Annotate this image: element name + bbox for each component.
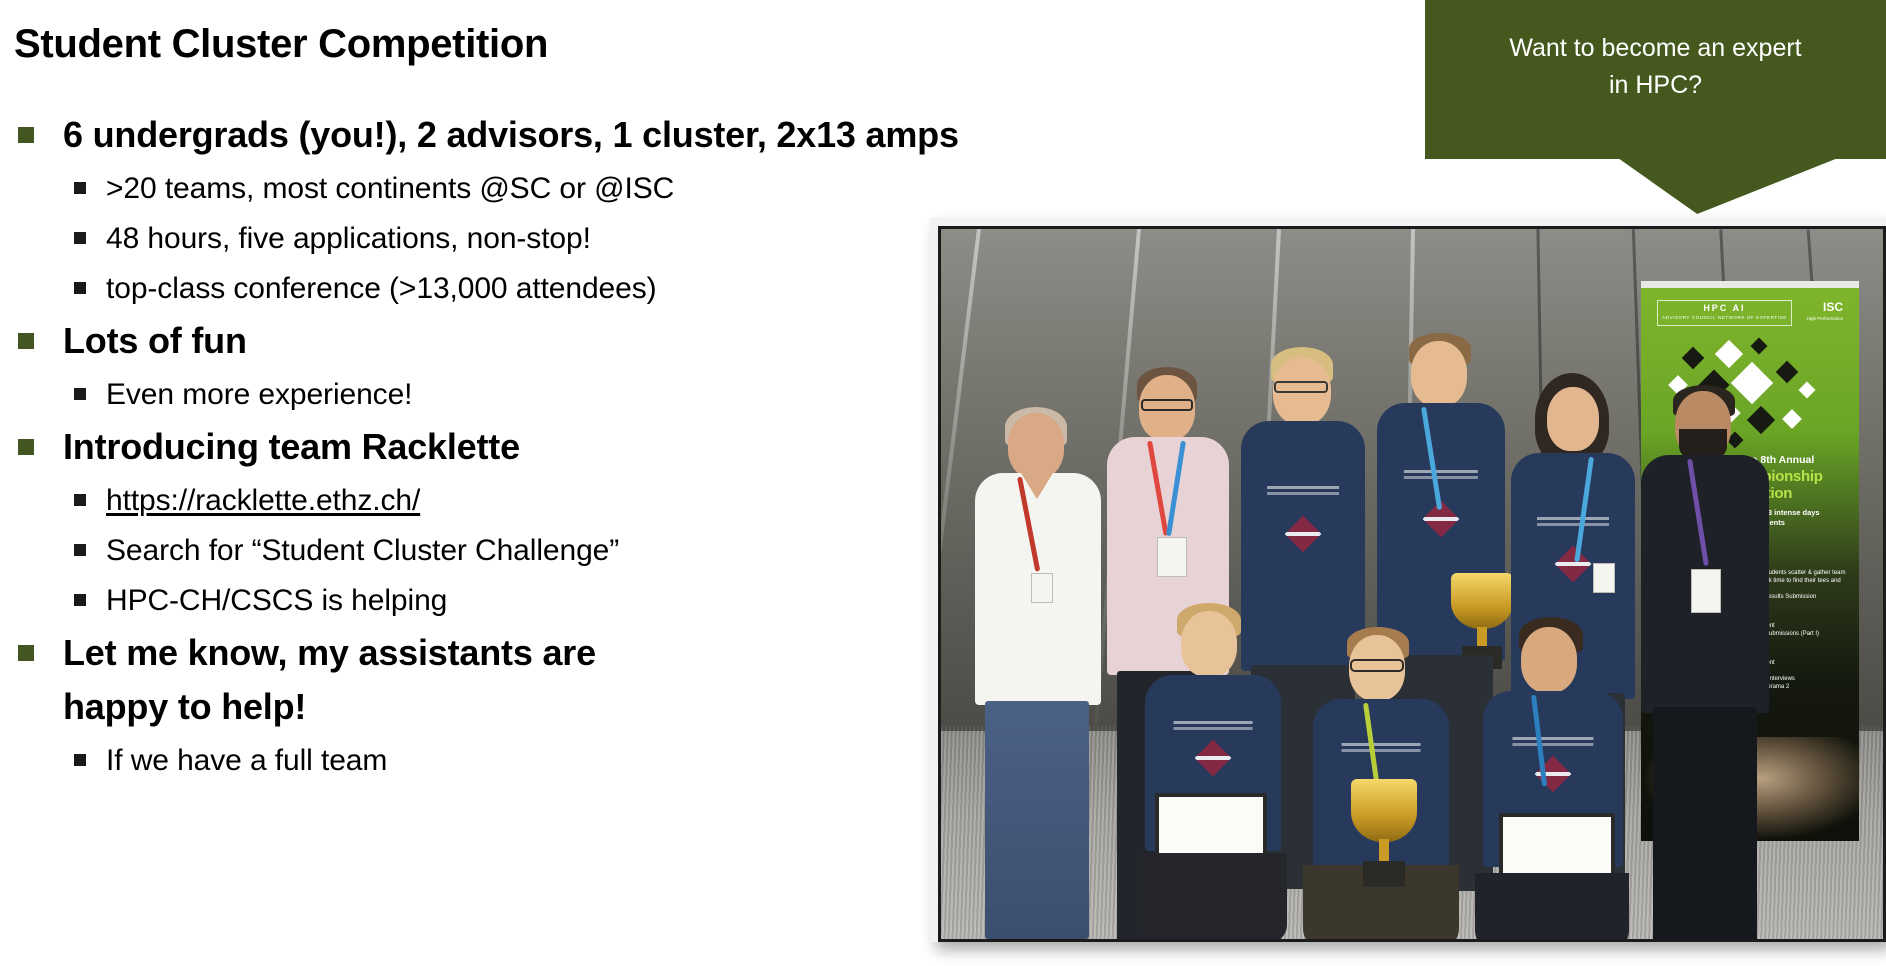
badge bbox=[1593, 563, 1615, 593]
person-advisor-white-shirt bbox=[975, 411, 1101, 942]
bullet-text: 48 hours, five applications, non-stop! bbox=[106, 214, 591, 263]
person-kneeling-certificate-right bbox=[1475, 617, 1631, 942]
head bbox=[1411, 341, 1467, 407]
hpc-expert-callout: Want to become an expert in HPC? bbox=[1425, 0, 1886, 159]
team-photo: HPC AI ADVISORY COUNCIL NETWORK OF EXPER… bbox=[938, 226, 1886, 942]
bullet-marker-level2 bbox=[74, 594, 86, 606]
head bbox=[1008, 413, 1064, 479]
list-item: Introducing team Racklette bbox=[0, 420, 960, 474]
trophy-cup bbox=[1351, 779, 1417, 842]
bullet-text: Even more experience! bbox=[106, 370, 412, 419]
hpc-ai-logo: HPC AI ADVISORY COUNCIL NETWORK OF EXPER… bbox=[1657, 300, 1792, 326]
hpc-ai-logo-sub: ADVISORY COUNCIL NETWORK OF EXPERTISE bbox=[1662, 313, 1787, 323]
glasses-icon bbox=[1274, 381, 1328, 393]
page-title: Student Cluster Competition bbox=[14, 22, 548, 67]
bullet-marker-level1 bbox=[18, 127, 34, 143]
glasses-icon bbox=[1141, 399, 1193, 411]
list-item: 6 undergrads (you!), 2 advisors, 1 clust… bbox=[0, 108, 960, 162]
trophy-stem bbox=[1379, 839, 1390, 863]
glasses-icon bbox=[1350, 659, 1404, 672]
badge bbox=[1691, 569, 1721, 613]
head bbox=[1521, 627, 1577, 693]
bullet-marker-level2 bbox=[74, 494, 86, 506]
legs bbox=[1475, 873, 1629, 942]
tshirt-logo bbox=[1555, 546, 1592, 583]
list-item: 48 hours, five applications, non-stop! bbox=[0, 214, 960, 263]
list-item: HPC-CH/CSCS is helping bbox=[0, 576, 960, 625]
person-kneeling-trophy-middle bbox=[1303, 627, 1459, 942]
racklette-website-link[interactable]: https://racklette.ethz.ch/ bbox=[106, 476, 420, 525]
bullet-text: Search for “Student Cluster Challenge” bbox=[106, 526, 619, 575]
list-item: Even more experience! bbox=[0, 370, 960, 419]
callout-tail bbox=[1618, 158, 1838, 214]
bullet-marker-level1 bbox=[18, 645, 34, 661]
trophy-base bbox=[1363, 861, 1405, 887]
head bbox=[1181, 611, 1237, 677]
list-item: Let me know, my assistants are happy to … bbox=[0, 626, 700, 734]
bullet-list: 6 undergrads (you!), 2 advisors, 1 clust… bbox=[0, 108, 960, 786]
tshirt-logo bbox=[1285, 516, 1322, 553]
bullet-text: 6 undergrads (you!), 2 advisors, 1 clust… bbox=[63, 108, 959, 162]
list-item: >20 teams, most continents @SC or @ISC bbox=[0, 164, 960, 213]
trophy bbox=[1351, 779, 1417, 887]
list-item: If we have a full team bbox=[0, 736, 960, 785]
bullet-marker-level2 bbox=[74, 388, 86, 400]
isc-logo: ISC High Performance bbox=[1807, 302, 1843, 324]
bullet-text: Introducing team Racklette bbox=[63, 420, 520, 474]
legs bbox=[985, 701, 1089, 939]
badge bbox=[1157, 537, 1187, 577]
bullet-text: >20 teams, most continents @SC or @ISC bbox=[106, 164, 674, 213]
bullet-marker-level2 bbox=[74, 544, 86, 556]
tshirt-logo bbox=[1195, 740, 1232, 777]
badge bbox=[1031, 573, 1053, 603]
team-photo-frame: HPC AI ADVISORY COUNCIL NETWORK OF EXPER… bbox=[930, 218, 1886, 942]
bullet-marker-level1 bbox=[18, 333, 34, 349]
bullet-text: HPC-CH/CSCS is helping bbox=[106, 576, 447, 625]
bullet-marker-level1 bbox=[18, 439, 34, 455]
bullet-marker-level2 bbox=[74, 282, 86, 294]
head bbox=[1547, 387, 1599, 451]
hpc-ai-logo-text: HPC AI bbox=[1703, 303, 1745, 313]
list-item: top-class conference (>13,000 attendees) bbox=[0, 264, 960, 313]
legs bbox=[1137, 853, 1287, 942]
bullet-text: Let me know, my assistants are happy to … bbox=[63, 626, 700, 734]
list-item: Search for “Student Cluster Challenge” bbox=[0, 526, 960, 575]
bullet-marker-level2 bbox=[74, 182, 86, 194]
list-item: Lots of fun bbox=[0, 314, 960, 368]
isc-logo-sub: High Performance bbox=[1807, 313, 1843, 324]
person-advisor-dark-jacket bbox=[1641, 385, 1769, 942]
bullet-text: Lots of fun bbox=[63, 314, 247, 368]
slide: Student Cluster Competition 6 undergrads… bbox=[0, 0, 1886, 966]
bullet-marker-level2 bbox=[74, 232, 86, 244]
banner-logos: HPC AI ADVISORY COUNCIL NETWORK OF EXPER… bbox=[1641, 288, 1859, 326]
legs bbox=[1653, 707, 1757, 942]
bullet-marker-level2 bbox=[74, 754, 86, 766]
bullet-text: top-class conference (>13,000 attendees) bbox=[106, 264, 657, 313]
bullet-text: If we have a full team bbox=[106, 736, 387, 785]
list-item-link[interactable]: https://racklette.ethz.ch/ bbox=[0, 476, 960, 525]
isc-logo-text: ISC bbox=[1823, 300, 1843, 314]
callout-text: Want to become an expert in HPC? bbox=[1425, 0, 1886, 104]
person-kneeling-certificate-left bbox=[1137, 603, 1289, 942]
